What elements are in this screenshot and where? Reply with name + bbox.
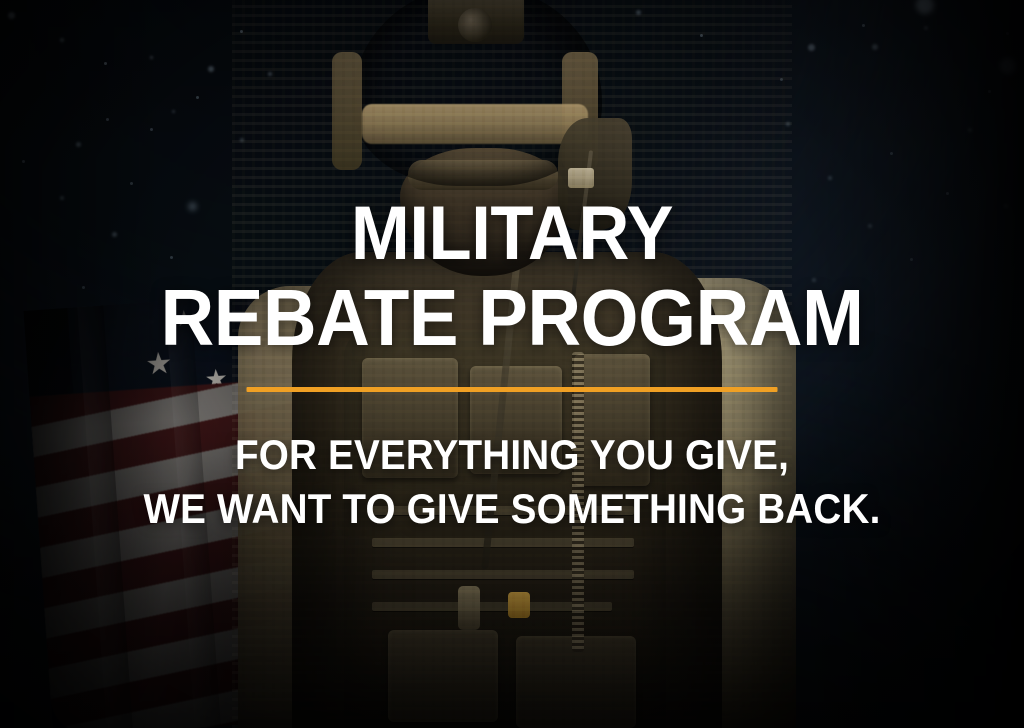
helmet-velcro-band xyxy=(362,104,588,144)
star-dot xyxy=(76,142,81,147)
vest-pouch xyxy=(470,366,562,474)
star-dot xyxy=(82,286,85,289)
molle-webbing xyxy=(372,570,634,579)
star-dot xyxy=(812,278,816,282)
star-dot xyxy=(172,110,175,113)
star-dot xyxy=(104,62,107,65)
star-dot xyxy=(808,44,815,51)
star-dot xyxy=(60,38,64,42)
star-dot xyxy=(196,96,199,99)
star-dot xyxy=(872,44,878,50)
vest-pouch xyxy=(362,358,458,478)
helmet-ir-patch xyxy=(568,168,594,188)
star-dot xyxy=(208,66,214,72)
star-bokeh xyxy=(916,0,934,14)
star-dot xyxy=(106,118,109,121)
star-dot xyxy=(924,26,928,30)
star-dot xyxy=(910,258,913,261)
star-dot xyxy=(868,224,872,228)
star-dot xyxy=(112,232,117,237)
star-dot xyxy=(8,12,15,19)
star-bokeh xyxy=(188,202,197,211)
helmet-side-rail-left xyxy=(332,52,362,170)
star-dot xyxy=(60,196,64,200)
soldier-figure xyxy=(232,0,792,728)
vest-pouch xyxy=(388,630,498,722)
star-dot xyxy=(1006,32,1009,35)
vest-buckle xyxy=(458,586,480,630)
vest-accent-tab xyxy=(508,592,530,618)
star-bokeh xyxy=(1000,58,1016,74)
military-rebate-banner: ★ ★ ★ ★ ★ xyxy=(0,0,1024,728)
star-dot xyxy=(150,128,153,131)
star-dot xyxy=(862,24,865,27)
star-dot xyxy=(828,176,832,180)
vest-pouch xyxy=(574,354,650,486)
star-dot xyxy=(968,128,972,132)
star-dot xyxy=(130,182,133,185)
molle-webbing xyxy=(372,506,634,515)
star-dot xyxy=(150,56,153,59)
star-dot xyxy=(1004,204,1008,208)
star-dot xyxy=(988,90,991,93)
star-dot xyxy=(170,256,173,259)
nvg-adjustment-knob xyxy=(458,8,492,42)
molle-webbing xyxy=(372,538,634,547)
vest-zipper xyxy=(572,352,584,652)
star-dot xyxy=(890,152,893,155)
star-dot xyxy=(22,160,25,163)
star-dot xyxy=(946,192,949,195)
